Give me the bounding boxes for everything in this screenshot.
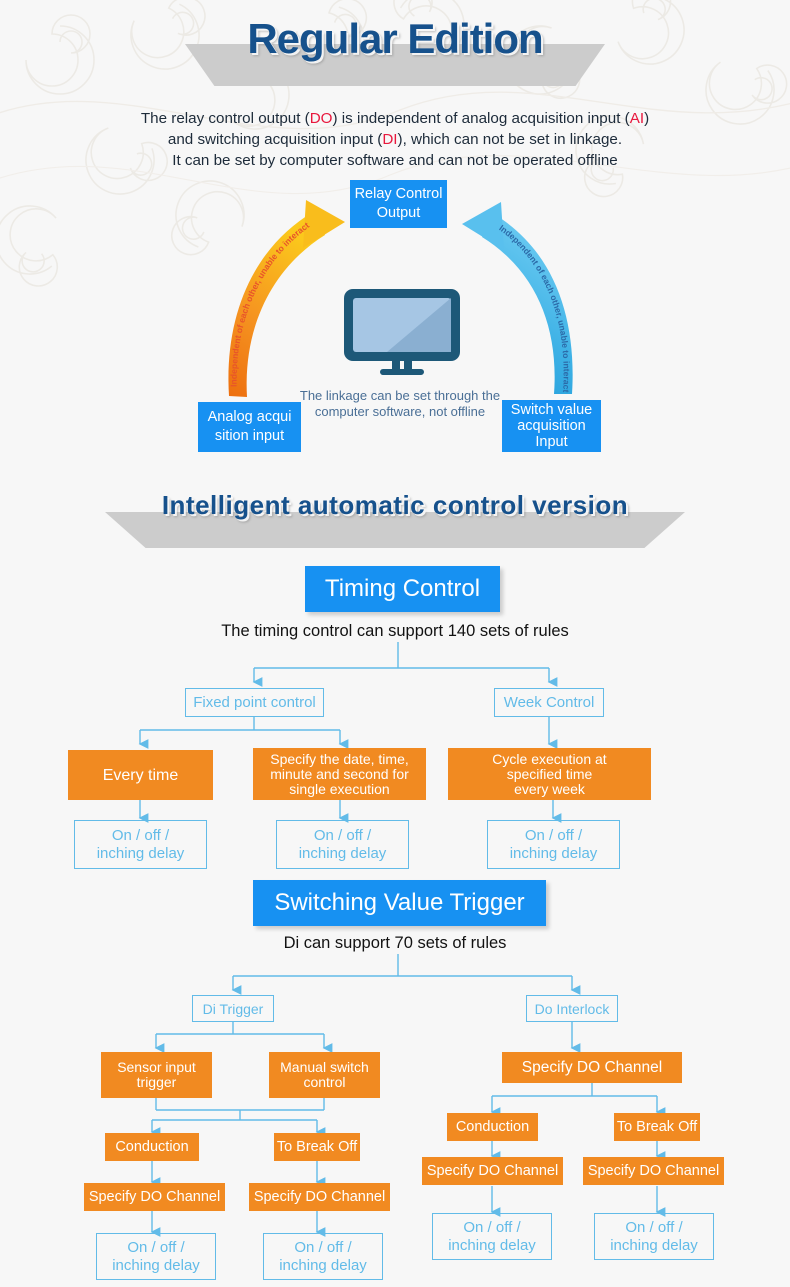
caption-line-2: computer software, not offline <box>280 404 520 420</box>
intro-highlight-ai: AI <box>630 110 644 127</box>
arrow-right-blue <box>462 202 573 394</box>
intro-line-3: It can be set by computer software and c… <box>0 150 790 171</box>
box-do-interlock[interactable]: Do Interlock <box>526 995 618 1022</box>
box-week-control[interactable]: Week Control <box>494 688 604 717</box>
box-specify-do-channel-left-1[interactable]: Specify DO Channel <box>84 1183 225 1211</box>
box-conduction-left[interactable]: Conduction <box>105 1133 199 1161</box>
intro-text: ), which can not be set in linkage. <box>398 131 623 148</box>
box-specify-do-channel-left-2[interactable]: Specify DO Channel <box>249 1183 390 1211</box>
box-delay-switching-4[interactable]: On / off / inching delay <box>594 1213 714 1260</box>
banner-regular-edition-title: Regular Edition <box>185 15 605 63</box>
box-delay-timing-1[interactable]: On / off / inching delay <box>74 820 207 869</box>
intro-text: The relay control output ( <box>141 110 310 127</box>
box-switch-line-2: acquisition <box>511 418 592 434</box>
box-delay-switching-3[interactable]: On / off / inching delay <box>432 1213 552 1260</box>
monitor-caption: The linkage can be set through the compu… <box>280 388 520 420</box>
delay-line-2: inching delay <box>299 845 387 863</box>
intro-line-2: and switching acquisition input (DI), wh… <box>0 129 790 150</box>
box-sensor-line-2: trigger <box>117 1075 196 1090</box>
computer-monitor-icon <box>342 287 462 375</box>
box-relay-line-1: Relay Control <box>355 185 443 204</box>
box-specify-do-channel-right-2[interactable]: Specify DO Channel <box>583 1157 724 1185</box>
delay-line-1: On / off / <box>610 1219 698 1237</box>
box-switch-line-3: Input <box>511 434 592 450</box>
arrow-left-orange <box>228 200 345 397</box>
box-every-time[interactable]: Every time <box>68 750 213 800</box>
delay-line-1: On / off / <box>299 827 387 845</box>
intro-highlight-di: DI <box>382 131 397 148</box>
intro-line-1: The relay control output (DO) is indepen… <box>0 108 790 129</box>
timing-subtitle: The timing control can support 140 sets … <box>0 622 790 641</box>
banner-regular-edition: Regular Edition <box>185 44 605 86</box>
delay-line-2: inching delay <box>610 1237 698 1255</box>
delay-line-2: inching delay <box>97 845 185 863</box>
box-sensor-input-trigger[interactable]: Sensor input trigger <box>101 1052 212 1098</box>
banner-intelligent-control: Intelligent automatic control version <box>105 512 685 548</box>
box-delay-timing-2[interactable]: On / off / inching delay <box>276 820 409 869</box>
delay-line-1: On / off / <box>448 1219 536 1237</box>
delay-line-2: inching delay <box>279 1257 367 1275</box>
delay-line-1: On / off / <box>112 1239 200 1257</box>
caption-line-1: The linkage can be set through the <box>280 388 520 404</box>
box-relay-control-output[interactable]: Relay Control Output <box>350 180 447 228</box>
box-conduction-right[interactable]: Conduction <box>447 1113 538 1141</box>
box-delay-switching-1[interactable]: On / off / inching delay <box>96 1233 216 1280</box>
box-cycle-line-1: Cycle execution at <box>492 752 606 767</box>
intro-text: and switching acquisition input ( <box>168 131 382 148</box>
arrow-left-label: Independent of each other, unable to int… <box>229 220 311 387</box>
box-specify-do-channel-right-1[interactable]: Specify DO Channel <box>422 1157 563 1185</box>
box-fixed-point-control[interactable]: Fixed point control <box>185 688 324 717</box>
intro-paragraph: The relay control output (DO) is indepen… <box>0 108 790 171</box>
box-to-break-off-left[interactable]: To Break Off <box>274 1133 360 1161</box>
delay-line-2: inching delay <box>510 845 598 863</box>
box-analog-line-1: Analog acqui <box>208 408 292 427</box>
delay-line-1: On / off / <box>97 827 185 845</box>
box-manual-switch-control[interactable]: Manual switch control <box>269 1052 380 1098</box>
box-specify-do-channel-right-top[interactable]: Specify DO Channel <box>502 1052 682 1083</box>
box-delay-switching-2[interactable]: On / off / inching delay <box>263 1233 383 1280</box>
box-analog-line-2: sition input <box>208 427 292 446</box>
box-cycle-execution[interactable]: Cycle execution at specified time every … <box>448 748 651 800</box>
delay-line-2: inching delay <box>448 1237 536 1255</box>
intro-text: ) is independent of analog acquisition i… <box>333 110 630 127</box>
delay-line-1: On / off / <box>279 1239 367 1257</box>
box-manual-line-1: Manual switch <box>280 1060 369 1075</box>
switching-subtitle: Di can support 70 sets of rules <box>0 934 790 953</box>
box-cycle-line-3: every week <box>492 782 606 797</box>
box-manual-line-2: control <box>280 1075 369 1090</box>
box-cycle-line-2: specified time <box>492 767 606 782</box>
delay-line-2: inching delay <box>112 1257 200 1275</box>
box-specify-line-2: minute and second for <box>270 767 409 782</box>
box-switch-line-1: Switch value <box>511 402 592 418</box>
box-specify-line-1: Specify the date, time, <box>270 752 409 767</box>
box-relay-line-2: Output <box>355 204 443 223</box>
intro-text: ) <box>644 110 649 127</box>
box-sensor-line-1: Sensor input <box>117 1060 196 1075</box>
arrow-right-label: Independent of each other, unable to int… <box>497 223 571 393</box>
delay-line-1: On / off / <box>510 827 598 845</box>
intro-highlight-do: DO <box>310 110 333 127</box>
box-delay-timing-3[interactable]: On / off / inching delay <box>487 820 620 869</box>
box-di-trigger[interactable]: Di Trigger <box>192 995 274 1022</box>
box-to-break-off-right[interactable]: To Break Off <box>614 1113 700 1141</box>
box-specify-line-3: single execution <box>270 782 409 797</box>
box-timing-control[interactable]: Timing Control <box>305 566 500 612</box>
box-switching-value-trigger[interactable]: Switching Value Trigger <box>253 880 546 926</box>
banner-intelligent-control-title: Intelligent automatic control version <box>105 490 685 521</box>
box-specify-date-time[interactable]: Specify the date, time, minute and secon… <box>253 748 426 800</box>
